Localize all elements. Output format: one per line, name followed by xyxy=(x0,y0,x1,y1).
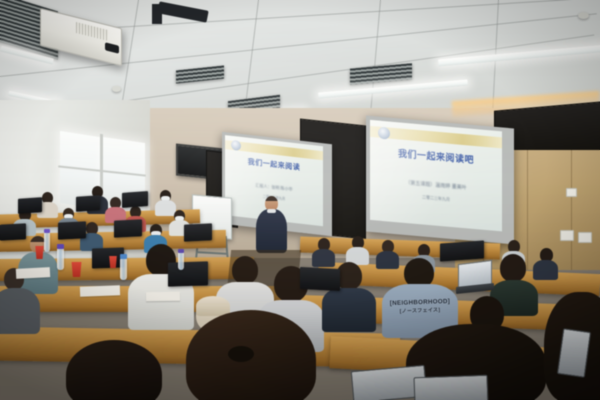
desktop-monitor xyxy=(0,223,26,240)
water-bottle[interactable] xyxy=(120,258,127,280)
bottle-cap xyxy=(120,254,127,259)
audience-body xyxy=(155,200,176,216)
water-bottle[interactable] xyxy=(44,232,50,252)
presenter-shirt-collar xyxy=(267,209,276,213)
printed-handout[interactable] xyxy=(80,285,120,296)
desktop-monitor xyxy=(122,191,148,208)
air-vent-center xyxy=(176,65,224,83)
water-bottle[interactable] xyxy=(178,252,184,270)
ceiling-light-2 xyxy=(438,45,600,67)
audience-head xyxy=(500,254,526,282)
printed-handout[interactable] xyxy=(16,267,50,279)
bottle-cap xyxy=(57,244,64,249)
desktop-monitor xyxy=(18,197,42,214)
presenter-body xyxy=(256,209,287,253)
audience-body xyxy=(312,249,335,267)
right-slide-logo-icon xyxy=(378,127,390,140)
wall-outlet[interactable] xyxy=(560,230,574,241)
hair-tie xyxy=(228,346,254,362)
desktop-monitor xyxy=(168,261,208,286)
smoke-detector-icon xyxy=(578,12,589,19)
right-slide-title: 我们一起来阅读吧 xyxy=(370,144,502,169)
printed-handout[interactable] xyxy=(146,292,180,302)
desktop-monitor xyxy=(58,221,86,239)
audience-body xyxy=(376,251,399,269)
bottle-cap xyxy=(178,249,184,253)
wall-outlet-2[interactable] xyxy=(578,232,592,243)
desktop-monitor xyxy=(184,223,212,241)
ceiling-light-3 xyxy=(318,79,468,98)
smoke-detector-icon-2 xyxy=(112,86,121,92)
desktop-monitor xyxy=(76,195,100,212)
desktop-monitor xyxy=(114,219,142,237)
bottle-cap xyxy=(44,229,50,233)
audience-body xyxy=(322,288,376,332)
audience-body xyxy=(0,288,40,334)
desktop-monitor xyxy=(440,240,484,261)
tablet-bottom-right[interactable] xyxy=(414,375,489,400)
water-bottle[interactable] xyxy=(57,248,64,270)
audience-head xyxy=(232,256,258,284)
wall-switch[interactable] xyxy=(566,188,577,197)
left-slide-logo-icon xyxy=(231,140,241,151)
right-screen-surface: 我们一起来阅读吧 （第五课题）温雨婷 董美叶 二零二三年九月 xyxy=(370,120,502,232)
right-projection-screen: 我们一起来阅读吧 （第五课题）温雨婷 董美叶 二零二三年九月 xyxy=(366,116,514,245)
audience-body xyxy=(533,260,558,280)
desktop-monitor xyxy=(300,267,340,291)
lecture-hall-photo: 我们一起来阅读 汇报人：张明 陈小华 二零二三年九月 我们一起来阅读吧 （第五课… xyxy=(0,0,600,400)
